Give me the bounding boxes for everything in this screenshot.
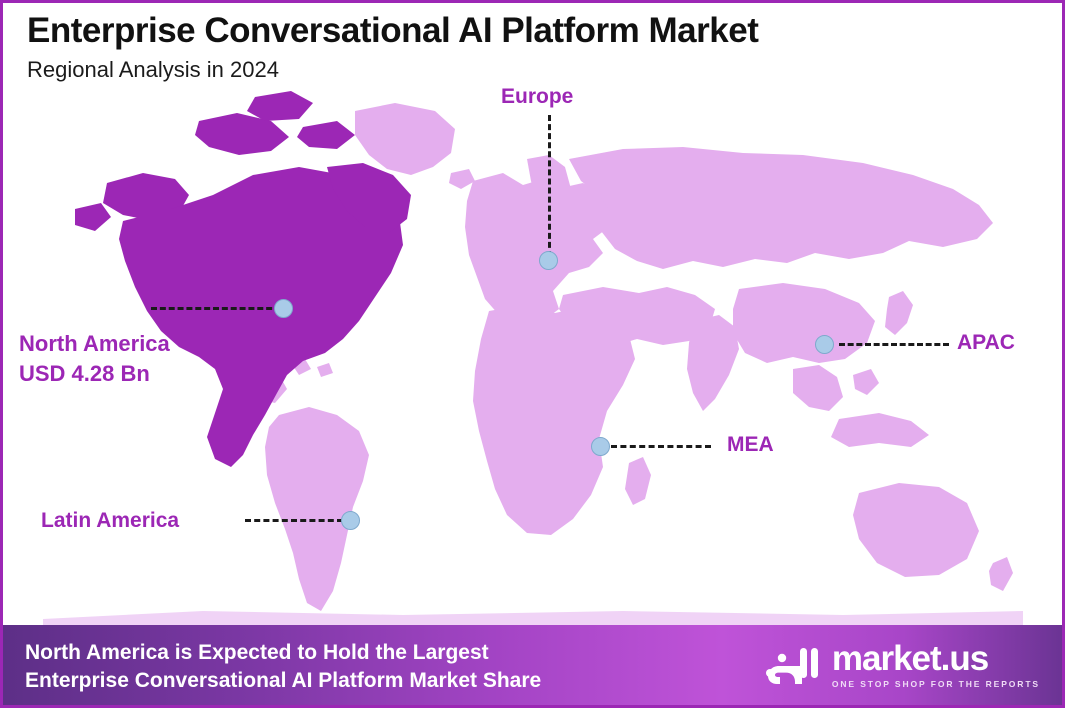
map-base-regions	[43, 103, 1023, 628]
leader-line-latin-america	[245, 519, 343, 522]
leader-line-north-america	[151, 307, 281, 310]
marker-apac	[815, 335, 834, 354]
footer-annotation: North America is Expected to Hold the La…	[25, 639, 541, 696]
logo-wordmark: market.us	[832, 641, 988, 676]
leader-line-mea	[611, 445, 711, 448]
page-title: Enterprise Conversational AI Platform Ma…	[27, 11, 1037, 51]
region-label-mea: MEA	[727, 431, 774, 459]
market-us-logo-type: market.us ONE STOP SHOP FOR THE REPORTS	[832, 641, 1040, 689]
leader-line-apac	[839, 343, 949, 346]
footer-annotation-line-1: North America is Expected to Hold the La…	[25, 639, 541, 667]
region-value-north-america: USD 4.28 Bn	[19, 359, 170, 389]
footer-banner: North America is Expected to Hold the La…	[3, 625, 1062, 705]
region-label-north-america: North America USD 4.28 Bn	[19, 329, 170, 388]
marker-north-america	[274, 299, 293, 318]
map-highlight-north-america	[75, 91, 411, 467]
region-label-europe: Europe	[501, 83, 573, 111]
infographic-canvas: Enterprise Conversational AI Platform Ma…	[0, 0, 1065, 708]
marker-latin-america	[341, 511, 360, 530]
leader-line-europe	[548, 115, 551, 257]
region-label-latin-america: Latin America	[41, 507, 179, 535]
region-name-north-america: North America	[19, 329, 170, 359]
market-us-logo-mark-icon	[766, 642, 822, 689]
market-us-logo[interactable]: market.us ONE STOP SHOP FOR THE REPORTS	[766, 641, 1040, 689]
marker-europe	[539, 251, 558, 270]
logo-tagline: ONE STOP SHOP FOR THE REPORTS	[832, 679, 1040, 689]
footer-annotation-line-2: Enterprise Conversational AI Platform Ma…	[25, 667, 541, 695]
logo-glyph-icon	[766, 642, 822, 684]
marker-mea	[591, 437, 610, 456]
region-label-apac: APAC	[957, 329, 1015, 357]
